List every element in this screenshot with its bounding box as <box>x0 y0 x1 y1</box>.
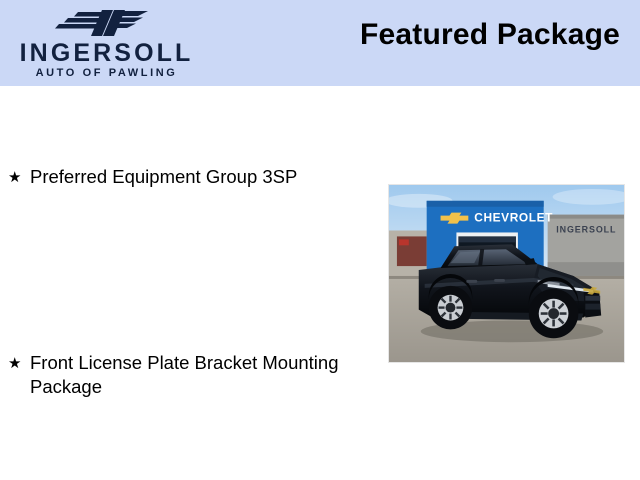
feature-list: ★ Preferred Equipment Group 3SP ★ Front … <box>0 86 388 480</box>
feature-label: Preferred Equipment Group 3SP <box>30 165 297 189</box>
star-bullet-icon: ★ <box>8 165 30 189</box>
svg-text:INGERSOLL: INGERSOLL <box>556 224 616 234</box>
ingersoll-wing-logo-icon <box>50 7 160 39</box>
vehicle-photo: INGERSOLL CHEVROLET <box>388 184 625 363</box>
page-title: Featured Package <box>360 18 620 52</box>
list-item: ★ Preferred Equipment Group 3SP <box>8 165 297 189</box>
feature-label: Front License Plate Bracket Mounting Pac… <box>30 351 350 399</box>
svg-text:CHEVROLET: CHEVROLET <box>474 211 553 225</box>
vehicle-photo-illustration: INGERSOLL CHEVROLET <box>389 185 624 362</box>
star-bullet-icon: ★ <box>8 351 30 375</box>
brand-tagline: AUTO OF PAWLING <box>0 67 210 80</box>
dealer-brand-logo: INGERSOLL AUTO OF PAWLING <box>0 4 210 84</box>
list-item: ★ Front License Plate Bracket Mounting P… <box>8 351 350 399</box>
page-header: INGERSOLL AUTO OF PAWLING Featured Packa… <box>0 0 640 86</box>
brand-name: INGERSOLL <box>0 40 210 66</box>
